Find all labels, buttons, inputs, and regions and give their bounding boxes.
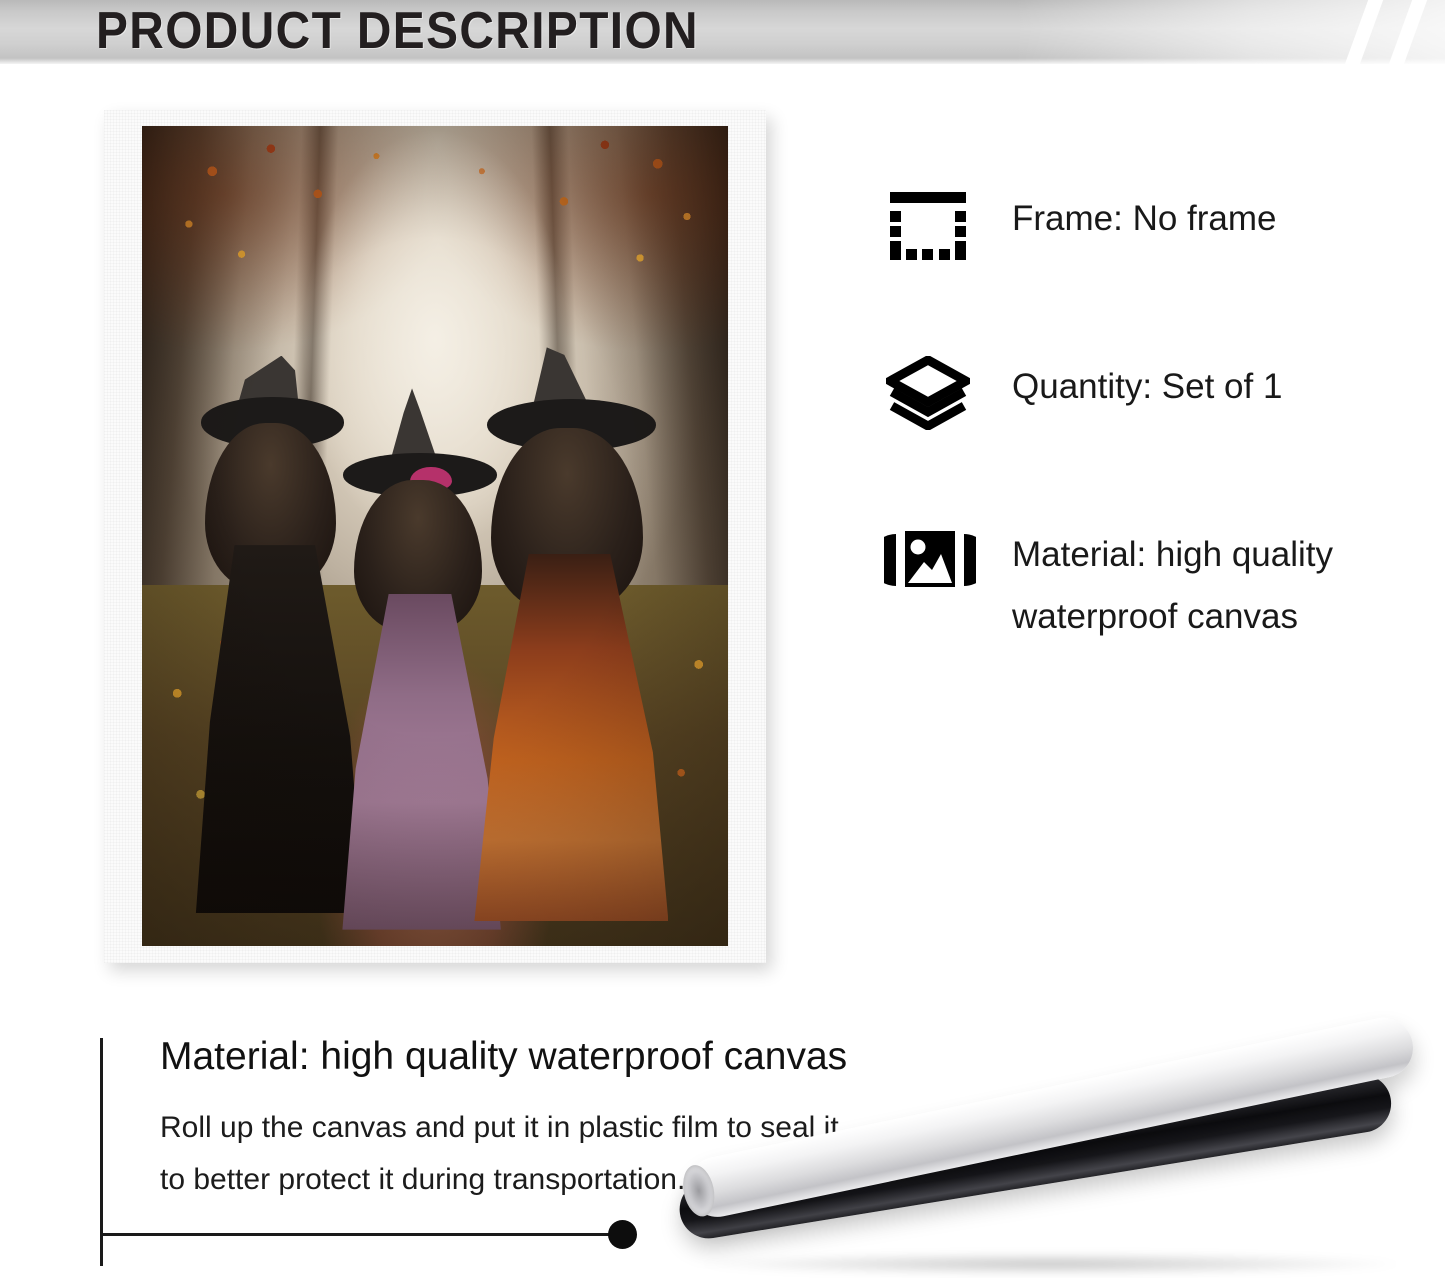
frame-icon-dot xyxy=(890,249,901,260)
frame-icon-dot xyxy=(922,249,933,260)
frame-icon-dot xyxy=(955,249,966,260)
image-icon xyxy=(884,526,976,594)
page-title: PRODUCT DESCRIPTION xyxy=(96,1,699,61)
layers-icon xyxy=(886,356,970,430)
spec-label-quantity: Quantity: Set of 1 xyxy=(968,354,1282,418)
packaging-photo xyxy=(660,1085,1445,1278)
frame-icon-dot xyxy=(955,211,966,222)
frame-icon-dot xyxy=(890,211,901,222)
image-icon-wrap xyxy=(876,522,968,598)
frame-icon-dot xyxy=(955,226,966,237)
material-detail-title: Material: high quality waterproof canvas xyxy=(160,1032,847,1082)
page-header-banner: PRODUCT DESCRIPTION xyxy=(0,0,1445,64)
spec-label-frame: Frame: No frame xyxy=(968,186,1277,250)
banner-fade-overlay xyxy=(1015,0,1445,64)
frame-icon-dot xyxy=(906,249,917,260)
painting-image xyxy=(142,126,728,946)
spec-label-material: Material: high quality waterproof canvas xyxy=(968,522,1412,648)
painting-vignette-layer xyxy=(142,126,728,946)
bracket-end-dot xyxy=(608,1220,637,1249)
frame-icon-dot xyxy=(890,226,901,237)
frame-icon-wrap xyxy=(876,186,968,262)
frame-icon-top-bar xyxy=(890,192,966,203)
spec-row-quantity: Quantity: Set of 1 xyxy=(876,354,1416,430)
spec-row-frame: Frame: No frame xyxy=(876,186,1416,262)
frame-icon-dot xyxy=(939,249,950,260)
frame-icon xyxy=(888,192,968,260)
layers-icon-wrap xyxy=(876,354,968,430)
bracket-horizontal-line xyxy=(100,1233,617,1236)
product-spec-list: Frame: No frame Quantity: Set of 1 xyxy=(876,186,1416,740)
bracket-vertical-line xyxy=(100,1038,103,1266)
product-artwork-canvas xyxy=(104,110,766,963)
packaging-photo-shadow xyxy=(700,1253,1400,1275)
spec-row-material: Material: high quality waterproof canvas xyxy=(876,522,1416,648)
